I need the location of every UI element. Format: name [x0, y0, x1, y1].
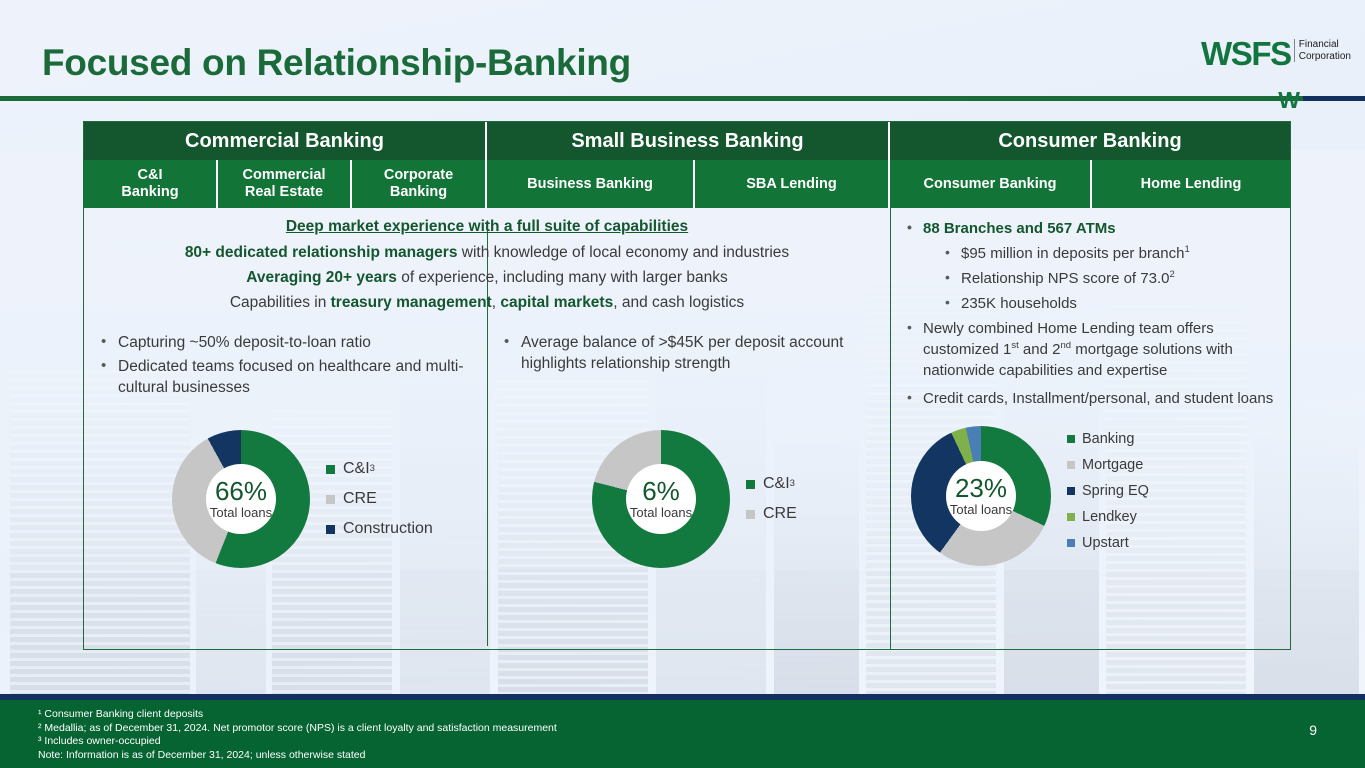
- donut-center-label-small-business: 6% Total loans: [626, 464, 696, 534]
- consumer-panel: 88 Branches and 567 ATMs $95 million in …: [890, 208, 1290, 649]
- logo-tagline: Financial Corporation: [1294, 39, 1351, 62]
- legend-item: Construction: [326, 520, 433, 538]
- slide-footer: ¹ Consumer Banking client deposits ² Med…: [0, 700, 1365, 768]
- legend-swatch-cre: [326, 495, 335, 504]
- list-item: Average balance of >$45K per deposit acc…: [499, 332, 869, 374]
- commercial-bullets-column: Capturing ~50% deposit-to-loan ratio Ded…: [96, 332, 476, 401]
- legend-item: Upstart: [1067, 535, 1149, 551]
- title-divider-rule: [0, 96, 1365, 101]
- group-header-commercial-banking[interactable]: Commercial Banking: [84, 122, 487, 160]
- footnote-2: ² Medallia; as of December 31, 2024. Net…: [38, 722, 557, 736]
- segments-table: Commercial Banking Small Business Bankin…: [83, 121, 1291, 650]
- list-item: Capturing ~50% deposit-to-loan ratio: [96, 332, 476, 353]
- capabilities-line-4-pre: Capabilities in: [230, 294, 331, 311]
- capabilities-line-4-bold1: treasury management: [331, 294, 492, 311]
- footnote-note: Note: Information is as of December 31, …: [38, 749, 557, 763]
- table-subheader-row: C&I Banking Commercial Real Estate Corpo…: [84, 160, 1290, 208]
- ordinal-suffix-2nd: nd: [1060, 340, 1071, 351]
- subheader-home-lending[interactable]: Home Lending: [1092, 160, 1290, 208]
- legend-label: Upstart: [1082, 535, 1129, 551]
- legend-label: CRE: [343, 490, 377, 508]
- footnote-marker: 2: [1169, 269, 1174, 280]
- table-body: Deep market experience with a full suite…: [84, 208, 1290, 649]
- legend-item: Mortgage: [1067, 457, 1149, 473]
- commercial-loan-mix-chart: 66% Total loans C&I3 CRE: [172, 430, 433, 568]
- list-item: 88 Branches and 567 ATMs $95 million in …: [903, 218, 1278, 314]
- donut-chart-consumer: 23% Total loans: [911, 426, 1051, 566]
- legend-commercial: C&I3 CRE Construction: [326, 460, 433, 538]
- list-item: Relationship NPS score of 73.02: [941, 268, 1278, 289]
- legend-consumer: Banking Mortgage Spring EQ Lendkey: [1067, 431, 1149, 561]
- footnotes: ¹ Consumer Banking client deposits ² Med…: [38, 708, 557, 762]
- legend-label: C&I: [343, 460, 370, 478]
- capabilities-line-3: Averaging 20+ years of experience, inclu…: [84, 265, 890, 290]
- legend-swatch-ci: [746, 480, 755, 489]
- legend-label: Banking: [1082, 431, 1134, 447]
- legend-item: C&I3: [326, 460, 433, 478]
- legend-label: Mortgage: [1082, 457, 1143, 473]
- legend-swatch-upstart: [1067, 539, 1075, 547]
- subheader-ci-banking-line2: Banking: [121, 184, 178, 200]
- legend-item: C&I3: [746, 475, 797, 493]
- list-item: 235K households: [941, 293, 1278, 314]
- legend-swatch-spring-eq: [1067, 487, 1075, 495]
- commercial-bullet-list: Capturing ~50% deposit-to-loan ratio Ded…: [96, 332, 476, 398]
- consumer-sub-bullet-list: $95 million in deposits per branch1 Rela…: [941, 243, 1278, 314]
- legend-small-business: C&I3 CRE: [746, 475, 797, 523]
- consumer-bullet-list: 88 Branches and 567 ATMs $95 million in …: [903, 218, 1278, 409]
- donut-center-value: 66%: [215, 478, 267, 505]
- capabilities-line-2-bold: 80+ dedicated relationship managers: [185, 244, 458, 261]
- legend-label: CRE: [763, 505, 797, 523]
- subheader-consumer-banking[interactable]: Consumer Banking: [890, 160, 1092, 208]
- legend-label: Spring EQ: [1082, 483, 1149, 499]
- legend-swatch-cre: [746, 510, 755, 519]
- table-group-header-row: Commercial Banking Small Business Bankin…: [84, 122, 1290, 160]
- legend-label: Lendkey: [1082, 509, 1137, 525]
- group-header-small-business-banking[interactable]: Small Business Banking: [487, 122, 890, 160]
- donut-center-label-consumer: 23% Total loans: [946, 461, 1016, 531]
- footnote-marker: 1: [1184, 244, 1189, 255]
- logo-tagline-line1: Financial: [1299, 39, 1351, 51]
- legend-label: Construction: [343, 520, 433, 538]
- donut-center-label-commercial: 66% Total loans: [206, 464, 276, 534]
- capabilities-line-4-bold2: capital markets: [500, 294, 613, 311]
- donut-center-caption: Total loans: [630, 505, 692, 521]
- capabilities-line-4: Capabilities in treasury management, cap…: [84, 290, 890, 315]
- donut-center-value: 23%: [955, 475, 1007, 502]
- group-header-consumer-banking[interactable]: Consumer Banking: [890, 122, 1290, 160]
- subheader-ci-banking[interactable]: C&I Banking: [84, 160, 218, 208]
- consumer-branches-label: 88 Branches and 567 ATMs: [923, 220, 1116, 237]
- capabilities-line-2-rest: with knowledge of local economy and indu…: [457, 244, 789, 261]
- donut-chart-small-business: 6% Total loans: [592, 430, 730, 568]
- capabilities-line-2: 80+ dedicated relationship managers with…: [84, 240, 890, 265]
- logo-wordmark: WSFS: [1201, 38, 1291, 69]
- left-panel: Deep market experience with a full suite…: [84, 208, 890, 649]
- subheader-ci-banking-line1: C&I: [138, 167, 163, 183]
- legend-item: CRE: [326, 490, 433, 508]
- subheader-corporate-banking[interactable]: Corporate Banking: [352, 160, 487, 208]
- small-business-bullet-list: Average balance of >$45K per deposit acc…: [499, 332, 869, 374]
- donut-center-caption: Total loans: [210, 505, 272, 521]
- small-business-loan-mix-chart: 6% Total loans C&I3 CRE: [592, 430, 797, 568]
- list-item: $95 million in deposits per branch1: [941, 243, 1278, 264]
- subheader-corporate-banking-line2: Banking: [390, 184, 447, 200]
- subheader-corporate-banking-line1: Corporate: [384, 167, 453, 183]
- home-lending-text-b: and 2: [1019, 341, 1061, 358]
- page-title: Focused on Relationship-Banking: [42, 42, 631, 84]
- capabilities-line-3-bold: Averaging 20+ years: [246, 269, 397, 286]
- list-item: Credit cards, Installment/personal, and …: [903, 388, 1278, 409]
- legend-swatch-construction: [326, 525, 335, 534]
- list-item: Dedicated teams focused on healthcare an…: [96, 356, 476, 398]
- logo-tagline-line2: Corporation: [1299, 51, 1351, 63]
- capabilities-line-3-rest: of experience, including many with large…: [397, 269, 728, 286]
- legend-label: C&I: [763, 475, 790, 493]
- subheader-commercial-real-estate[interactable]: Commercial Real Estate: [218, 160, 352, 208]
- capabilities-headline: Deep market experience with a full suite…: [84, 214, 890, 240]
- legend-item: CRE: [746, 505, 797, 523]
- title-divider-accent: [1303, 96, 1365, 101]
- ordinal-suffix-1st: st: [1011, 340, 1018, 351]
- consumer-loan-mix-chart: 23% Total loans Banking Mortgage: [911, 426, 1149, 566]
- subheader-commercial-real-estate-line1: Commercial: [242, 167, 325, 183]
- donut-chart-commercial: 66% Total loans: [172, 430, 310, 568]
- legend-item: Spring EQ: [1067, 483, 1149, 499]
- legend-swatch-mortgage: [1067, 461, 1075, 469]
- slide-header: Focused on Relationship-Banking WSFS Fin…: [0, 0, 1365, 99]
- slide-canvas: Focused on Relationship-Banking WSFS Fin…: [0, 0, 1365, 768]
- capabilities-line-4-post: , and cash logistics: [613, 294, 744, 311]
- capabilities-headline-block: Deep market experience with a full suite…: [84, 208, 890, 315]
- donut-center-value: 6%: [642, 478, 680, 505]
- subheader-commercial-real-estate-line2: Real Estate: [245, 184, 323, 200]
- legend-item: Banking: [1067, 431, 1149, 447]
- page-number: 9: [1309, 722, 1317, 738]
- wsfs-logo: WSFS Financial Corporation: [1201, 38, 1351, 69]
- footnote-1: ¹ Consumer Banking client deposits: [38, 708, 557, 722]
- donut-center-caption: Total loans: [950, 502, 1012, 518]
- list-item: Newly combined Home Lending team offers …: [903, 318, 1278, 381]
- consumer-deposits-per-branch: $95 million in deposits per branch: [961, 245, 1184, 262]
- footnote-3: ³ Includes owner-occupied: [38, 735, 557, 749]
- legend-swatch-ci: [326, 465, 335, 474]
- legend-swatch-banking: [1067, 435, 1075, 443]
- legend-swatch-lendkey: [1067, 513, 1075, 521]
- subheader-business-banking[interactable]: Business Banking: [487, 160, 695, 208]
- legend-item: Lendkey: [1067, 509, 1149, 525]
- consumer-nps-score: Relationship NPS score of 73.0: [961, 270, 1169, 287]
- small-business-bullets-column: Average balance of >$45K per deposit acc…: [499, 332, 869, 377]
- footer-accent-bar: [0, 694, 1365, 700]
- logo-w-mark: W: [1278, 91, 1299, 109]
- subheader-sba-lending[interactable]: SBA Lending: [695, 160, 890, 208]
